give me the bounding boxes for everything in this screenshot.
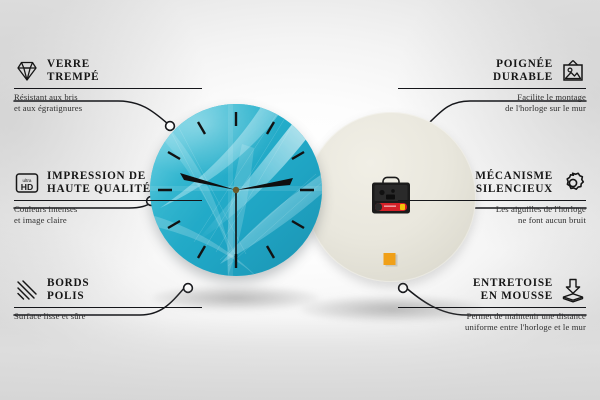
feature-title: ENTRETOISE EN MOUSSE bbox=[473, 277, 553, 304]
feature-title-line2: TREMPÉ bbox=[47, 71, 99, 84]
feature-mecanisme-silencieux: MÉCANISME SILENCIEUX Les aiguilles de l'… bbox=[398, 170, 586, 226]
feature-divider bbox=[398, 200, 586, 202]
feature-desc-line1: Résistant aux bris bbox=[14, 92, 202, 103]
diamond-icon bbox=[14, 58, 40, 84]
feature-title-line2: SILENCIEUX bbox=[475, 183, 553, 196]
feature-title-line1: VERRE bbox=[47, 58, 99, 71]
feature-verre-trempe: VERRE TREMPÉ Résistant aux bris et aux é… bbox=[14, 58, 202, 114]
feature-desc-line1: Permet de maintenir une distance bbox=[398, 311, 586, 322]
gear-icon bbox=[560, 170, 586, 196]
feature-divider bbox=[14, 88, 202, 90]
ultra-hd-icon: ultra HD bbox=[14, 170, 40, 196]
foam-spacer bbox=[383, 252, 400, 269]
feature-title: BORDS POLIS bbox=[47, 277, 89, 304]
feature-title-line1: ENTRETOISE bbox=[473, 277, 553, 290]
polished-edges-icon bbox=[14, 277, 40, 303]
feature-description: Facilite le montage de l'horloge sur le … bbox=[398, 92, 586, 113]
feature-description: Les aiguilles de l'horloge ne font aucun… bbox=[398, 204, 586, 225]
foam-spacer-arrow-icon bbox=[560, 277, 586, 303]
feature-title: VERRE TREMPÉ bbox=[47, 58, 99, 85]
feature-title-line2: EN MOUSSE bbox=[473, 290, 553, 303]
feature-description: Surface lisse et sûre bbox=[14, 311, 202, 322]
minute-hand bbox=[236, 178, 293, 190]
feature-header: ultra HD IMPRESSION DE HAUTE QUALITÉ bbox=[14, 170, 202, 197]
feature-bords-polis: BORDS POLIS Surface lisse et sûre bbox=[14, 277, 202, 322]
feature-title-line1: POIGNÉE bbox=[493, 58, 553, 71]
feature-description: Résistant aux bris et aux égratignures bbox=[14, 92, 202, 113]
feature-divider bbox=[398, 307, 586, 309]
feature-desc-line1: Surface lisse et sûre bbox=[14, 311, 202, 322]
feature-divider bbox=[398, 88, 586, 90]
feature-divider bbox=[14, 200, 202, 202]
ultra-hd-main-label: HD bbox=[21, 182, 33, 192]
feature-desc-line2: uniforme entre l'horloge et le mur bbox=[398, 322, 586, 333]
feature-desc-line2: et image claire bbox=[14, 215, 202, 226]
feature-title-line2: HAUTE QUALITÉ bbox=[47, 183, 151, 196]
hands-hub bbox=[233, 187, 239, 193]
feature-title-line1: BORDS bbox=[47, 277, 89, 290]
infographic-canvas: VERRE TREMPÉ Résistant aux bris et aux é… bbox=[0, 0, 600, 400]
feature-desc-line1: Couleurs intenses bbox=[14, 204, 202, 215]
feature-title: IMPRESSION DE HAUTE QUALITÉ bbox=[47, 170, 151, 197]
feature-title-line1: IMPRESSION DE bbox=[47, 170, 151, 183]
feature-header: BORDS POLIS bbox=[14, 277, 202, 304]
feature-desc-line1: Facilite le montage bbox=[398, 92, 586, 103]
feature-title: MÉCANISME SILENCIEUX bbox=[475, 170, 553, 197]
hanging-frame-icon bbox=[560, 58, 586, 84]
feature-divider bbox=[14, 307, 202, 309]
feature-title-line1: MÉCANISME bbox=[475, 170, 553, 183]
feature-description: Couleurs intenses et image claire bbox=[14, 204, 202, 225]
feature-desc-line2: de l'horloge sur le mur bbox=[398, 103, 586, 114]
feature-header: ENTRETOISE EN MOUSSE bbox=[398, 277, 586, 304]
feature-entretoise-en-mousse: ENTRETOISE EN MOUSSE Permet de maintenir… bbox=[398, 277, 586, 333]
feature-impression-haute-qualite: ultra HD IMPRESSION DE HAUTE QUALITÉ Cou… bbox=[14, 170, 202, 226]
feature-desc-line2: et aux égratignures bbox=[14, 103, 202, 114]
feature-desc-line1: Les aiguilles de l'horloge bbox=[398, 204, 586, 215]
feature-poignee-durable: POIGNÉE DURABLE Facilite le montage de l… bbox=[398, 58, 586, 114]
feature-header: MÉCANISME SILENCIEUX bbox=[398, 170, 586, 197]
feature-title: POIGNÉE DURABLE bbox=[493, 58, 553, 85]
feature-desc-line2: ne font aucun bruit bbox=[398, 215, 586, 226]
feature-title-line2: DURABLE bbox=[493, 71, 553, 84]
feature-header: VERRE TREMPÉ bbox=[14, 58, 202, 85]
feature-header: POIGNÉE DURABLE bbox=[398, 58, 586, 85]
feature-description: Permet de maintenir une distance uniform… bbox=[398, 311, 586, 332]
feature-title-line2: POLIS bbox=[47, 290, 89, 303]
